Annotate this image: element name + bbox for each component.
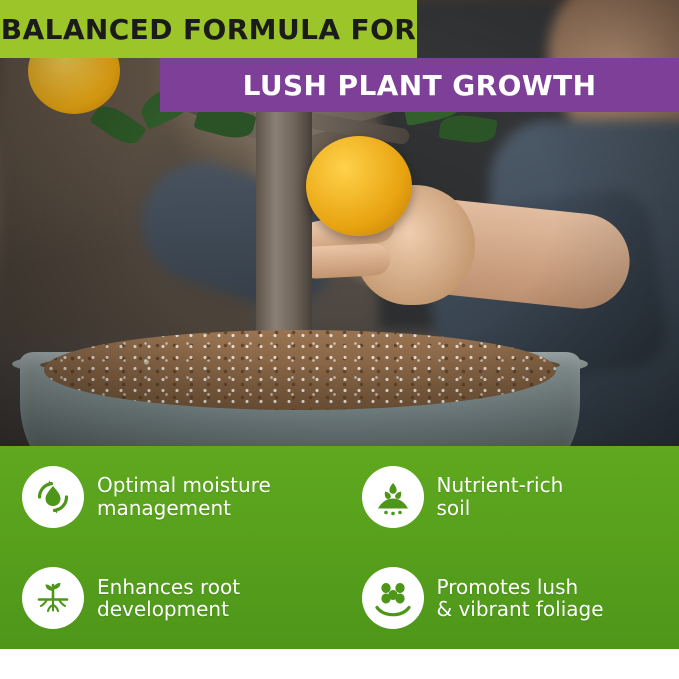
feature-label-foliage: Promotes lush & vibrant foliage [437, 576, 604, 621]
leaves-in-hand-icon [362, 567, 424, 629]
headline-banner-top: BALANCED FORMULA FOR [0, 0, 417, 58]
headline-line-1: BALANCED FORMULA FOR [1, 13, 416, 46]
feature-label-soil: Nutrient-rich soil [437, 474, 564, 519]
headline-line-2: LUSH PLANT GROWTH [243, 69, 597, 102]
plant-roots-icon [22, 567, 84, 629]
headline-banner-bottom: LUSH PLANT GROWTH [160, 58, 679, 112]
feature-item-moisture: Optimal moisture management [0, 446, 340, 548]
feature-item-foliage: Promotes lush & vibrant foliage [340, 548, 679, 650]
feature-label-roots-line2: development [97, 597, 229, 621]
feature-item-roots: Enhances root development [0, 548, 340, 650]
feature-label-roots: Enhances root development [97, 576, 240, 621]
feature-grid: Optimal moisture management Nutrient-ric… [0, 446, 679, 649]
bottom-whitespace [0, 649, 679, 679]
feature-item-soil: Nutrient-rich soil [340, 446, 679, 548]
feature-label-moisture-line1: Optimal moisture [97, 473, 271, 497]
water-drop-recycle-icon [22, 466, 84, 528]
feature-label-moisture: Optimal moisture management [97, 474, 271, 519]
feature-label-soil-line1: Nutrient-rich [437, 473, 564, 497]
feature-label-foliage-line1: Promotes lush [437, 575, 579, 599]
feature-label-soil-line2: soil [437, 496, 471, 520]
feature-label-foliage-line2: & vibrant foliage [437, 597, 604, 621]
nutrient-soil-mound-icon [362, 466, 424, 528]
product-feature-image: BALANCED FORMULA FOR LUSH PLANT GROWTH O… [0, 0, 679, 679]
feature-label-roots-line1: Enhances root [97, 575, 240, 599]
feature-label-moisture-line2: management [97, 496, 231, 520]
